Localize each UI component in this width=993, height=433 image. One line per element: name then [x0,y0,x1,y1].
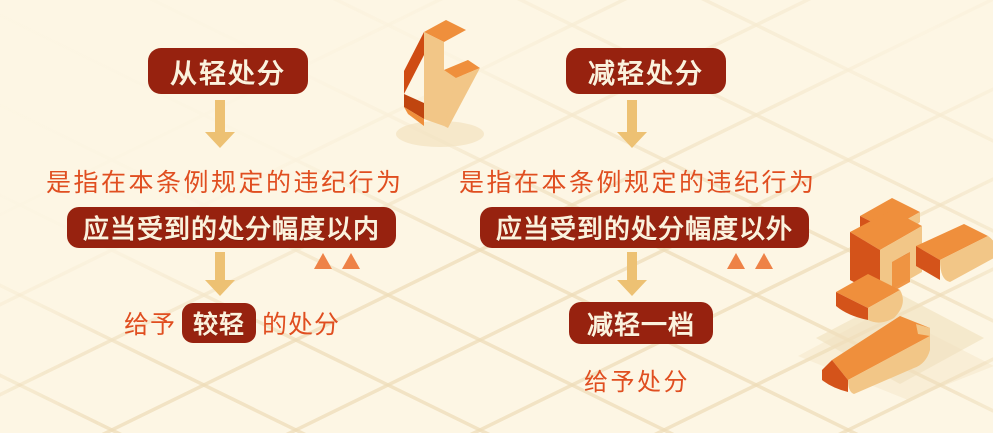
right-title-text: 减轻处分 [588,52,704,91]
marker-left-b-icon [342,253,360,269]
marker-left-a-icon [314,253,332,269]
left-title-text: 从轻处分 [170,52,286,91]
left-title-badge: 从轻处分 [148,48,308,94]
right-result-badge: 减轻一档 [569,302,713,344]
arrow-right-top-icon [612,100,652,150]
arrow-left-bottom-icon [200,252,240,298]
arrow-right-bottom-icon [612,252,652,298]
left-scope-badge: 应当受到的处分幅度以内 [67,207,396,248]
left-result-pill: 较轻 [182,303,256,343]
left-result-suffix: 的处分 [262,305,340,341]
right-result-text: 减轻一档 [587,305,695,342]
right-scope-text: 应当受到的处分幅度以外 [496,209,793,246]
left-result-prefix: 给予 [124,305,176,341]
left-result-pill-text: 较轻 [193,305,245,341]
infographic-canvas: 从轻处分 是指在本条例规定的违纪行为 应当受到的处分幅度以内 给予 较轻 的处分… [0,0,993,433]
left-scope-text: 应当受到的处分幅度以内 [83,209,380,246]
right-title-badge: 减轻处分 [566,48,726,94]
left-result-line: 给予 较轻 的处分 [124,303,340,343]
arrow-left-top-icon [200,100,240,150]
left-definition-text: 是指在本条例规定的违纪行为 [46,163,404,199]
right-result-caption: 给予处分 [584,362,690,397]
right-definition-text: 是指在本条例规定的违纪行为 [459,163,817,199]
marker-right-a-icon [727,253,745,269]
down-arrow-3d-icon [368,8,498,153]
marker-right-b-icon [755,253,773,269]
right-scope-badge: 应当受到的处分幅度以外 [480,207,809,248]
gavel-3d-icon [788,188,993,403]
